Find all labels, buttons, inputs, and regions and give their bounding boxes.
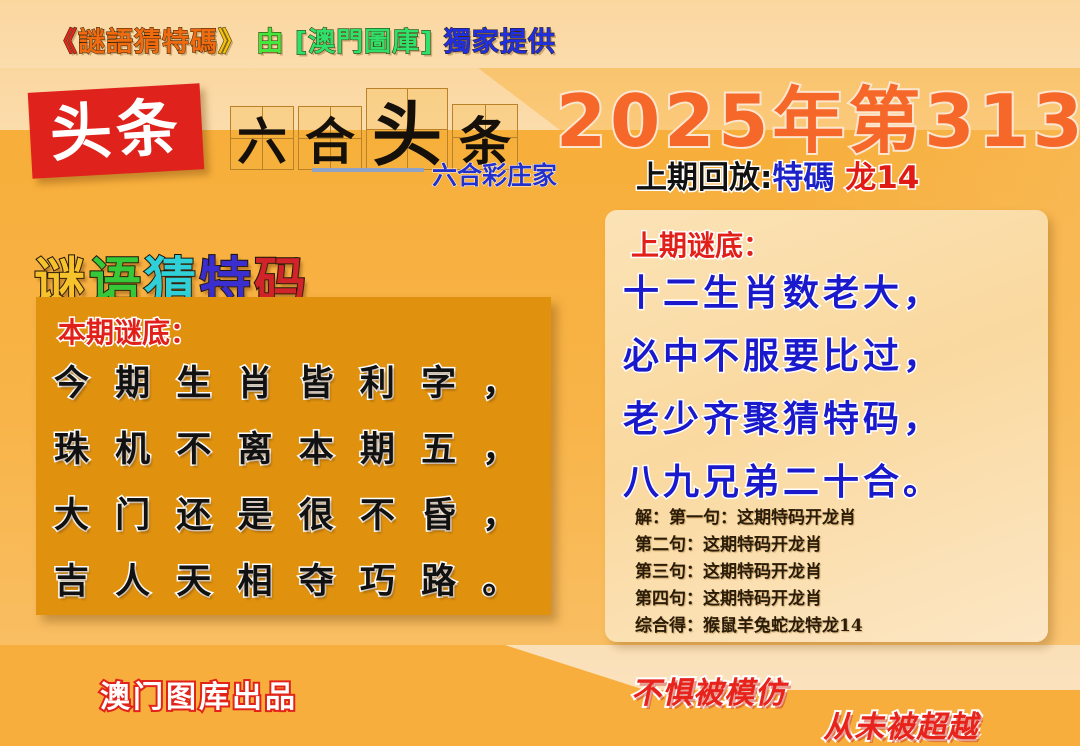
footer-slogan-1: 不惧被模仿 (629, 668, 793, 712)
toutiao-badge: 头条 (28, 83, 205, 178)
previous-riddle-lines: 十二生肖数老大， 必中不服要比过， 老少齐聚猜特码， 八九兄弟二十合。 (623, 262, 1033, 514)
logo-divider-rule (312, 168, 424, 172)
logo-tile-1: 六 (230, 106, 294, 170)
current-riddle-line: 今 期 生 肖 皆 利 字 ， (54, 351, 544, 417)
recall-label: 上期回放: (636, 160, 772, 196)
previous-riddle-notes: 解：第一句：这期特码开龙肖 第二句：这期特码开龙肖 第三句：这期特码开龙肖 第四… (635, 505, 1035, 640)
header-title: 謎語猜特碼 (78, 27, 218, 58)
previous-riddle-line: 必中不服要比过， (623, 325, 1033, 388)
current-riddle-box: 本期谜底： 今 期 生 肖 皆 利 字 ， 珠 机 不 离 本 期 五 ， 大 … (36, 297, 551, 615)
logo-tile-char: 合 (299, 107, 361, 169)
riddle-note: 解：第一句：这期特码开龙肖 (635, 505, 1035, 532)
logo-sub-slogan: 六合彩庄家 (432, 156, 557, 192)
recall-value: 龙14 (845, 160, 919, 196)
current-riddle-title: 本期谜底： (58, 311, 198, 351)
header-by-word: 由 (256, 27, 284, 58)
header-source-name: 澳門圖庫 (308, 27, 420, 58)
header-source-bracket-close: ] (420, 27, 433, 58)
previous-draw-line: 上期回放:特碼 龙14 (636, 152, 919, 197)
previous-riddle-line: 十二生肖数老大， (623, 262, 1033, 325)
logo-tile-2: 合 (298, 106, 362, 170)
previous-riddle-title: 上期谜底： (631, 224, 771, 264)
header-bracket-open: 《 (50, 27, 78, 58)
logo-tile-char: 六 (231, 107, 293, 169)
header-exclusive: 獨家提供 (444, 27, 556, 58)
current-riddle-line: 吉 人 天 相 夺 巧 路 。 (54, 549, 544, 615)
previous-riddle-panel: 上期谜底： 十二生肖数老大， 必中不服要比过， 老少齐聚猜特码， 八九兄弟二十合… (605, 210, 1048, 642)
riddle-note: 第四句：这期特码开龙肖 (635, 586, 1035, 613)
riddle-note-summary: 综合得：猴鼠羊兔蛇龙特龙14 (635, 613, 1035, 640)
footer-slogan-2: 从未被超越 (821, 702, 985, 746)
header-credit-line: 《謎語猜特碼》 由 [澳門圖庫] 獨家提供 (50, 20, 556, 59)
current-riddle-line: 珠 机 不 离 本 期 五 ， (54, 417, 544, 483)
poster-root: 《謎語猜特碼》 由 [澳門圖庫] 獨家提供 头条 六 合 头 条 六合彩庄家 2… (0, 0, 1080, 746)
recall-tema-label: 特碼 (772, 160, 834, 196)
current-riddle-lines: 今 期 生 肖 皆 利 字 ， 珠 机 不 离 本 期 五 ， 大 门 还 是 … (54, 351, 544, 615)
current-riddle-line: 大 门 还 是 很 不 昏 ， (54, 483, 544, 549)
toutiao-badge-label: 头条 (48, 96, 183, 165)
riddle-note: 第三句：这期特码开龙肖 (635, 559, 1035, 586)
previous-riddle-line: 老少齐聚猜特码， (623, 388, 1033, 451)
footer-brand: 澳门图库出品 (100, 672, 298, 716)
header-bracket-close: 》 (218, 27, 246, 58)
header-source-bracket-open: [ (295, 27, 308, 58)
riddle-note: 第二句：这期特码开龙肖 (635, 532, 1035, 559)
